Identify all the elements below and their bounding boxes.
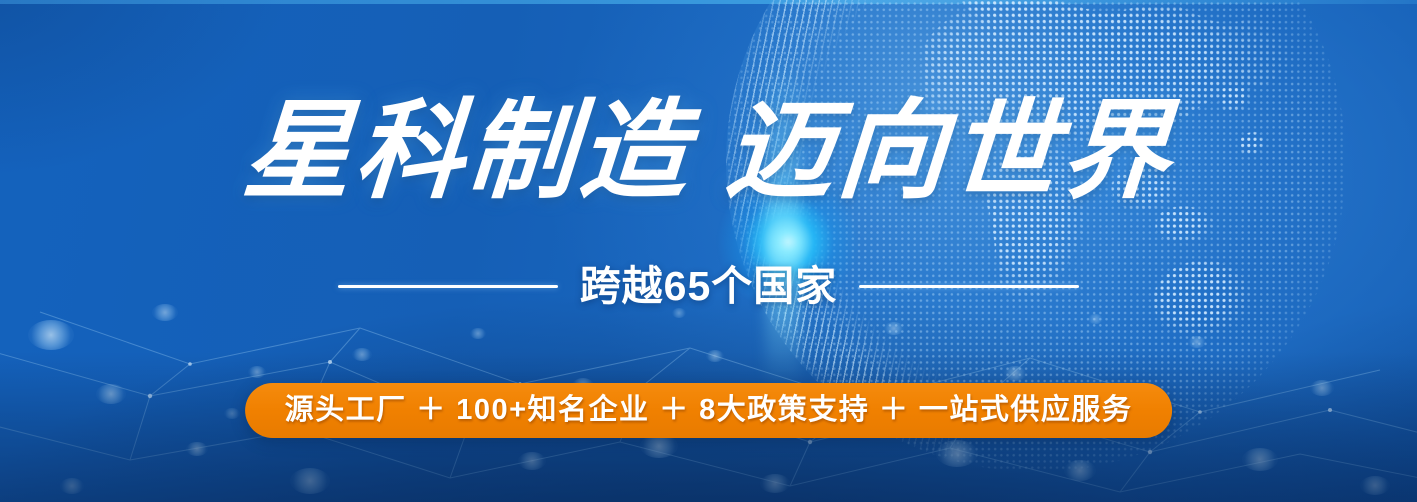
subtitle-rule-left	[338, 285, 558, 288]
highlights-pill-text: 源头工厂 ＋ 100+知名企业 ＋ 8大政策支持 ＋ 一站式供应服务	[285, 396, 1133, 425]
headline-part-2: 迈向世界	[721, 93, 1177, 212]
banner-content: 星科制造迈向世界 跨越65个国家 源头工厂 ＋ 100+知名企业 ＋ 8大政策支…	[0, 0, 1417, 502]
banner-subtitle: 跨越65个国家	[580, 266, 838, 307]
promo-banner: 星科制造迈向世界 跨越65个国家 源头工厂 ＋ 100+知名企业 ＋ 8大政策支…	[0, 0, 1417, 502]
banner-subtitle-row: 跨越65个国家	[0, 266, 1417, 307]
headline-part-1: 星科制造	[239, 93, 695, 212]
subtitle-rule-right	[859, 285, 1079, 288]
banner-headline: 星科制造迈向世界	[0, 96, 1417, 210]
highlights-pill[interactable]: 源头工厂 ＋ 100+知名企业 ＋ 8大政策支持 ＋ 一站式供应服务	[245, 383, 1173, 438]
